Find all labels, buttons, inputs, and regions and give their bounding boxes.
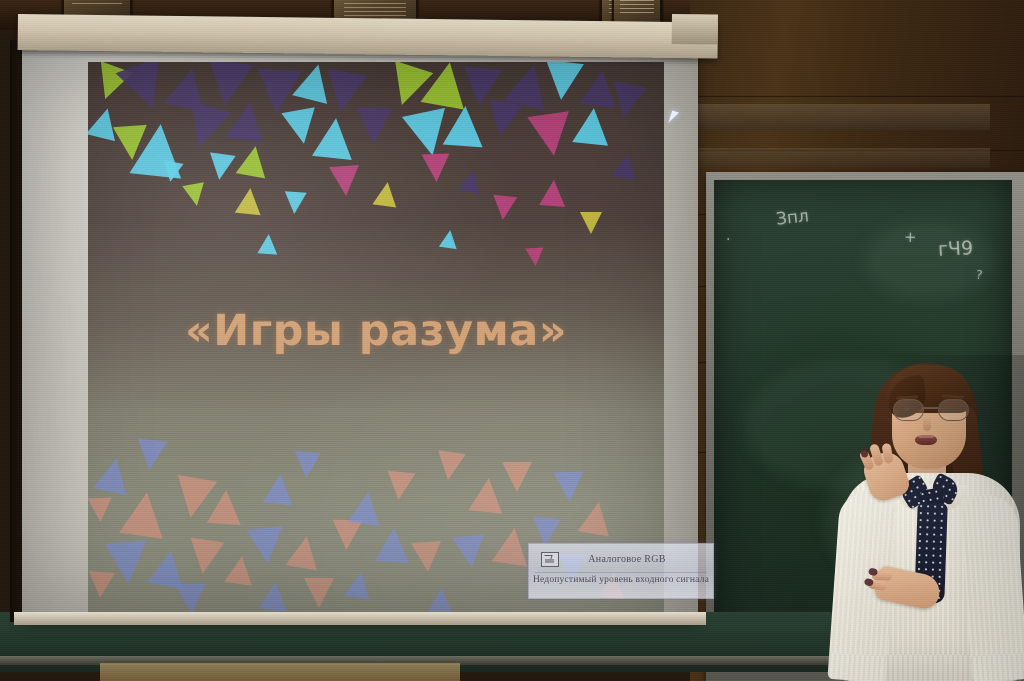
chalk-mark: · — [726, 232, 730, 248]
cuff-right — [971, 653, 1024, 681]
pattern-triangle — [257, 233, 278, 254]
pattern-triangle — [344, 570, 374, 600]
pattern-triangle — [452, 534, 487, 569]
projected-slide[interactable]: «Игры разума» — [88, 62, 664, 620]
pattern-triangle — [411, 541, 443, 573]
pattern-triangle — [88, 571, 115, 599]
pattern-triangle — [293, 451, 321, 479]
osd-source-label: Аналоговое RGB — [559, 554, 695, 565]
pattern-triangle — [525, 247, 544, 266]
projector-osd-notification[interactable]: Аналоговое RGB Недопустимый уровень вход… — [528, 543, 714, 599]
pattern-triangle — [331, 519, 362, 550]
pattern-triangle — [468, 476, 505, 513]
pattern-triangle — [147, 547, 189, 589]
pattern-triangle — [116, 62, 175, 116]
pattern-triangle — [527, 111, 574, 158]
pattern-triangle — [236, 144, 271, 179]
pattern-triangle — [179, 101, 231, 153]
wooden-panel — [100, 663, 460, 681]
pattern-triangle — [542, 62, 584, 102]
pattern-triangle — [458, 168, 484, 194]
osd-header-row: Аналоговое RGB — [529, 547, 713, 571]
pattern-triangle — [175, 583, 206, 614]
pattern-triangle — [580, 212, 602, 234]
cuff-left — [827, 653, 887, 681]
lens-right — [938, 399, 969, 421]
presenter-person — [830, 355, 1024, 681]
pattern-triangle — [285, 533, 322, 570]
pattern-triangle — [492, 526, 533, 567]
lip-highlight — [918, 435, 934, 438]
pattern-triangle — [263, 473, 296, 506]
pattern-triangle — [186, 538, 224, 576]
projector-screen[interactable]: «Игры разума» — [22, 42, 698, 620]
screenshot-root: Зпл+гЧ9·? «Игры разума» Аналоговое RGB Н… — [0, 0, 1024, 681]
wall-beam-lower — [690, 148, 990, 168]
pattern-triangle — [259, 581, 290, 612]
wall-beam-upper — [690, 104, 990, 130]
pattern-triangle — [385, 471, 416, 502]
pattern-triangle — [434, 450, 466, 482]
pattern-triangle — [207, 489, 243, 525]
pattern-triangle — [427, 587, 455, 615]
screen-bottom-weight-bar — [14, 612, 706, 625]
pattern-triangle — [483, 99, 522, 138]
slide-title: «Игры разума» — [88, 306, 664, 356]
pattern-triangle — [443, 105, 486, 148]
pattern-triangle — [312, 116, 356, 160]
pattern-triangle — [607, 81, 647, 121]
eyeglasses-icon — [892, 399, 968, 419]
pattern-triangle — [182, 182, 207, 207]
monitor-input-icon — [541, 552, 559, 567]
osd-message: Недопустимый уровень входного сигнала — [529, 575, 713, 585]
pattern-triangle — [119, 489, 169, 539]
pattern-triangle — [348, 490, 384, 526]
pattern-triangle — [135, 439, 168, 472]
pattern-triangle — [553, 471, 584, 502]
pattern-triangle — [439, 229, 459, 249]
pattern-triangle — [577, 499, 614, 536]
pattern-triangle — [246, 526, 286, 566]
lens-left — [893, 399, 924, 421]
pattern-triangle — [572, 106, 612, 146]
pattern-triangle — [491, 195, 517, 221]
glasses-bridge — [922, 407, 938, 409]
pattern-triangle — [372, 180, 399, 207]
nose — [923, 417, 931, 431]
pattern-triangle — [355, 107, 392, 144]
pattern-triangle — [235, 187, 264, 216]
pattern-triangle — [206, 152, 235, 181]
pattern-triangle — [539, 179, 567, 207]
pattern-triangle — [502, 462, 532, 492]
screen-housing-cap — [672, 14, 718, 45]
osd-divider — [535, 572, 707, 573]
pattern-triangle — [160, 160, 183, 183]
pattern-triangle — [422, 154, 451, 183]
pattern-triangle — [304, 578, 334, 608]
pattern-triangle — [612, 152, 640, 180]
pattern-triangle — [375, 527, 411, 563]
pattern-triangle — [283, 191, 306, 214]
pattern-triangle — [329, 165, 361, 197]
pattern-triangle — [88, 498, 112, 523]
chalk-mark: Зпл — [775, 206, 810, 229]
